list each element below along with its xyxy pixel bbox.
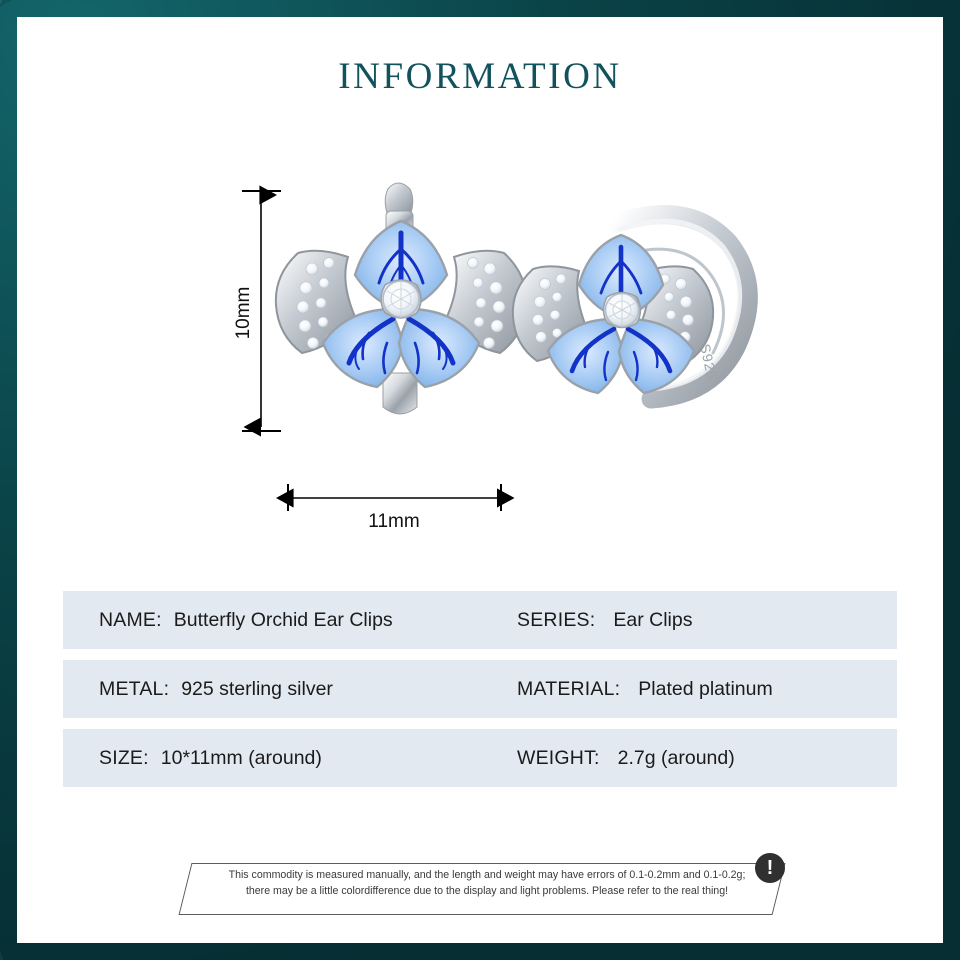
- disclaimer-banner: This commodity is measured manually, and…: [167, 853, 807, 925]
- row-cell-name: NAME: Butterfly Orchid Ear Clips: [63, 609, 517, 632]
- earring-left: [276, 183, 526, 414]
- field-label: SERIES:: [517, 609, 595, 632]
- field-label: MATERIAL:: [517, 678, 620, 701]
- row-cell-size: SIZE: 10*11mm (around): [63, 747, 517, 770]
- table-row: NAME: Butterfly Orchid Ear Clips SERIES:…: [63, 591, 897, 649]
- earring-right: S925: [513, 215, 748, 399]
- row-cell-series: SERIES: Ear Clips: [517, 609, 897, 632]
- height-label: 10mm: [233, 287, 254, 340]
- exclamation-icon: !: [755, 853, 785, 883]
- product-illustration: 10mm 11mm: [17, 157, 943, 557]
- field-value: Plated platinum: [638, 678, 772, 701]
- exclamation-glyph: !: [767, 858, 774, 878]
- table-row: SIZE: 10*11mm (around) WEIGHT: 2.7g (aro…: [63, 729, 897, 787]
- disclaimer-line-1: This commodity is measured manually, and…: [167, 867, 807, 883]
- field-label: WEIGHT:: [517, 747, 600, 770]
- product-image-area: 10mm 11mm: [17, 157, 943, 557]
- height-dimension: 10mm: [233, 191, 281, 431]
- row-cell-weight: WEIGHT: 2.7g (around): [517, 747, 897, 770]
- field-label: SIZE:: [99, 747, 149, 770]
- width-dimension: 11mm: [288, 484, 501, 532]
- row-cell-material: MATERIAL: Plated platinum: [517, 678, 897, 701]
- field-value: Ear Clips: [613, 609, 692, 632]
- field-value: 10*11mm (around): [161, 747, 322, 770]
- field-label: NAME:: [99, 609, 162, 632]
- table-row: METAL: 925 sterling silver MATERIAL: Pla…: [63, 660, 897, 718]
- field-value: 2.7g (around): [618, 747, 735, 770]
- page-background: INFORMATION: [0, 0, 960, 960]
- disclaimer-line-2: there may be a little colordifference du…: [167, 883, 807, 899]
- disclaimer-text: This commodity is measured manually, and…: [167, 867, 807, 900]
- field-value: Butterfly Orchid Ear Clips: [174, 609, 393, 632]
- information-table: NAME: Butterfly Orchid Ear Clips SERIES:…: [63, 591, 897, 798]
- width-label: 11mm: [368, 511, 419, 532]
- information-card: INFORMATION: [17, 17, 943, 943]
- field-value: 925 sterling silver: [181, 678, 333, 701]
- page-title: INFORMATION: [17, 55, 943, 98]
- row-cell-metal: METAL: 925 sterling silver: [63, 678, 517, 701]
- field-label: METAL:: [99, 678, 169, 701]
